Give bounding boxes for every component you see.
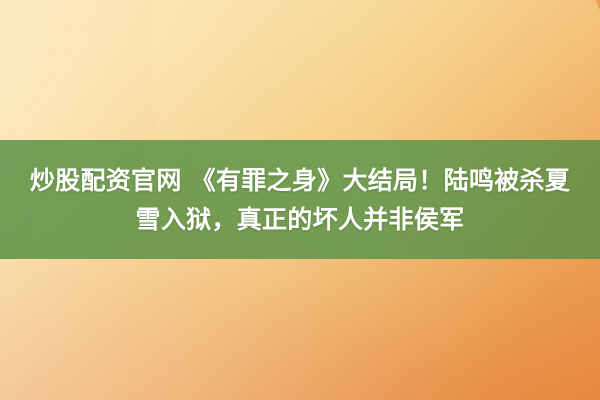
- headline-block: 炒股配资官网 《有罪之身》大结局！陆鸣被杀夏 雪入狱，真正的坏人并非侯军: [0, 140, 600, 259]
- headline-line-1: 炒股配资官网 《有罪之身》大结局！陆鸣被杀夏: [30, 164, 570, 197]
- promo-banner: 炒股配资官网 《有罪之身》大结局！陆鸣被杀夏 雪入狱，真正的坏人并非侯军: [0, 0, 600, 400]
- headline-line-2: 雪入狱，真正的坏人并非侯军: [136, 203, 465, 236]
